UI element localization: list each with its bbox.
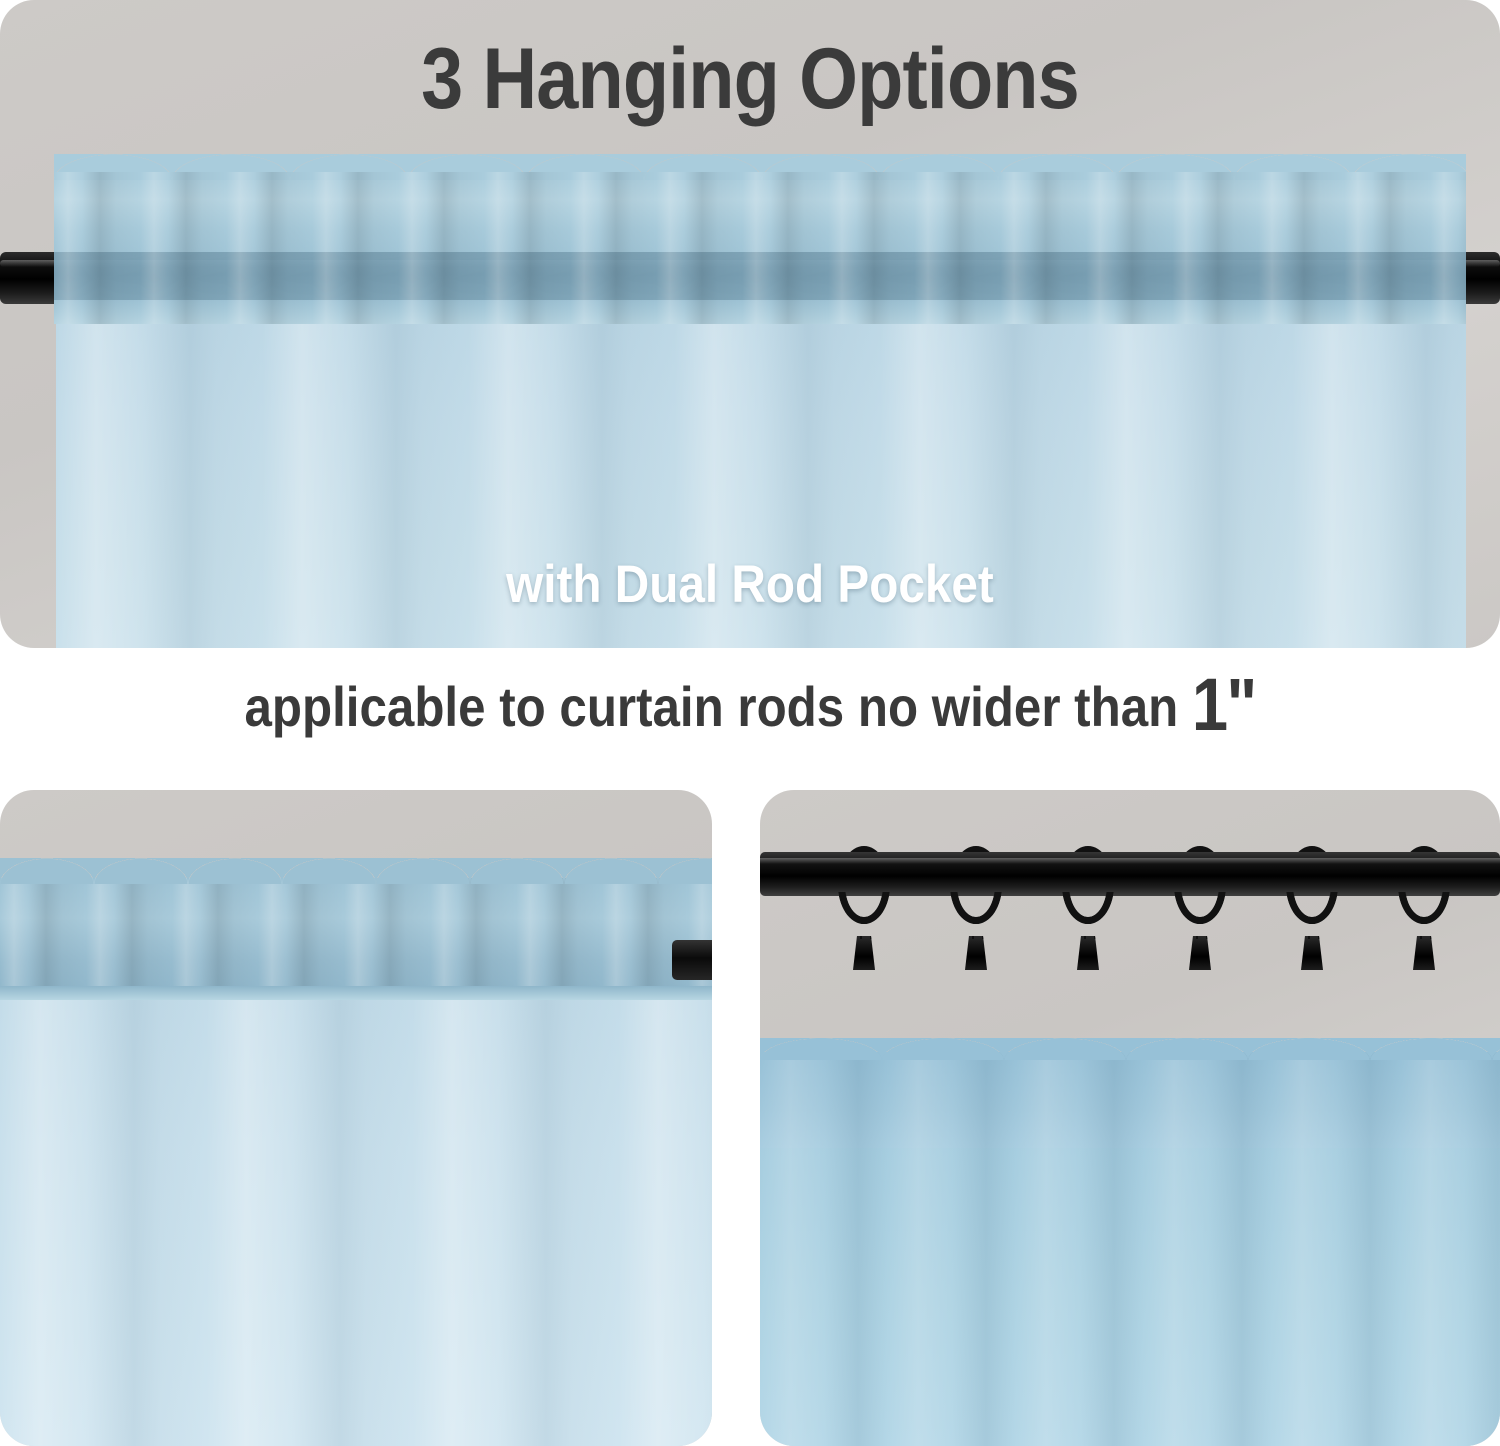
caption-dual-rod-pocket: with Dual Rod Pocket — [75, 558, 1425, 611]
curtain-rod — [760, 852, 1500, 896]
curtain-clip — [1413, 936, 1435, 970]
rod-pocket-band — [0, 878, 712, 996]
pleat-shading — [760, 1052, 1500, 1148]
panel-pole-top: Pole Top - with bottom hem — [0, 790, 712, 1446]
rod-show-through-band — [54, 252, 1466, 306]
curtain-top-header — [760, 1052, 1500, 1148]
curtain-wavy-top-edge — [760, 1038, 1500, 1060]
gather-creases — [0, 878, 712, 996]
gather-creases — [54, 300, 1466, 324]
curtain-clip — [965, 936, 987, 970]
pleat-shading — [0, 996, 712, 1446]
rod-pocket-lower-seam — [54, 300, 1466, 324]
curtain-clip — [1077, 936, 1099, 970]
gather-creases — [54, 172, 1466, 264]
panel-dual-rod-pocket: 3 Hanging Options with Dual Rod Pocket — [0, 0, 1500, 648]
curtain-fabric-body — [0, 996, 712, 1446]
rod-pocket-ruffle — [54, 172, 1466, 264]
page-title: 3 Hanging Options — [90, 36, 1410, 122]
note-line: applicable to curtain rods no wider than… — [90, 668, 1410, 742]
ruffle-scallop-edge — [0, 858, 712, 884]
curtain-clip — [853, 936, 875, 970]
curtain-clip — [1301, 936, 1323, 970]
rod-pocket-seam — [0, 986, 712, 1000]
note-emphasis: 1" — [1192, 663, 1256, 746]
curtain-clip — [1189, 936, 1211, 970]
infographic-root: 3 Hanging Options with Dual Rod Pocket a… — [0, 0, 1500, 1446]
note-text: applicable to curtain rods no wider than — [245, 675, 1192, 738]
panel-clips: with Clips(not included) — [760, 790, 1500, 1446]
curtain-rod-tip — [672, 940, 712, 980]
gather-creases — [54, 252, 1466, 306]
